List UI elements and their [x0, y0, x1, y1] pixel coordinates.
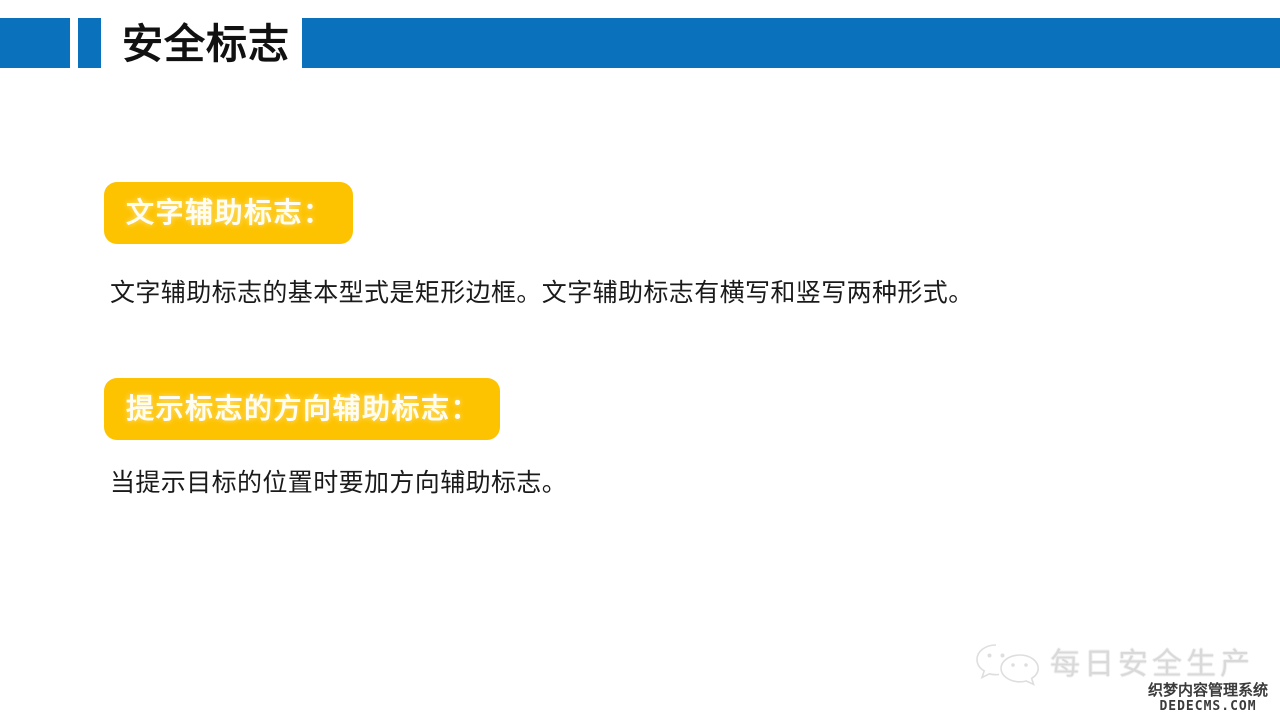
header-accent-block-left [0, 18, 70, 68]
header-accent-block-small [78, 18, 101, 68]
cms-watermark: 织梦内容管理系统 DEDECMS.COM [1136, 682, 1280, 715]
slide-body: 文字辅助标志： 文字辅助标志的基本型式是矩形边框。文字辅助标志有横写和竖写两种形… [0, 92, 1280, 720]
section-paragraph-text-auxiliary-sign: 文字辅助标志的基本型式是矩形边框。文字辅助标志有横写和竖写两种形式。 [110, 276, 974, 310]
cms-watermark-en: DEDECMS.COM [1136, 699, 1280, 715]
section-badge-direction-auxiliary-sign: 提示标志的方向辅助标志： [104, 378, 500, 440]
page-title: 安全标志 [122, 16, 302, 72]
section-badge-text-auxiliary-sign: 文字辅助标志： [104, 182, 353, 244]
watermark: 每日安全生产 织梦内容管理系统 DEDECMS.COM [968, 636, 1280, 720]
watermark-account-name: 每日安全生产 [1050, 639, 1254, 683]
section-paragraph-direction-auxiliary-sign: 当提示目标的位置时要加方向辅助标志。 [110, 466, 567, 500]
wechat-icon [974, 640, 1044, 686]
slide-canvas: 安全标志 文字辅助标志： 文字辅助标志的基本型式是矩形边框。文字辅助标志有横写和… [0, 0, 1280, 720]
cms-watermark-cn: 织梦内容管理系统 [1136, 682, 1280, 699]
header-accent-bar-right [302, 18, 1280, 68]
slide-header: 安全标志 [0, 0, 1280, 92]
